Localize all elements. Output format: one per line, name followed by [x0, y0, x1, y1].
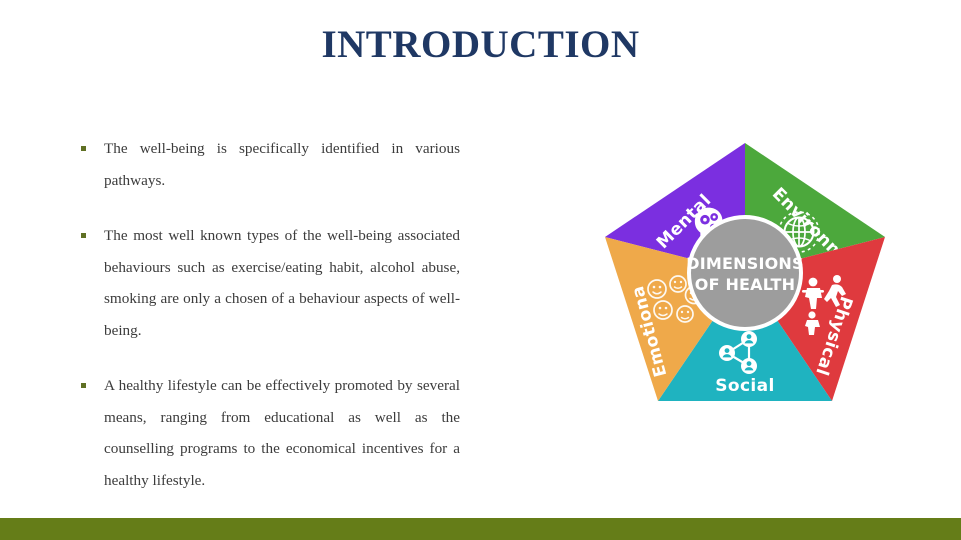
list-item-text: The well-being is specifically identifie…: [104, 140, 460, 189]
footer-accent-bar: [0, 518, 961, 540]
bullet-list: The well-being is specifically identifie…: [78, 133, 460, 496]
list-item-text: A healthy lifestyle can be effectively p…: [104, 377, 460, 489]
bullet-square-icon: [81, 233, 86, 238]
center-circle[interactable]: DIMENSIONS OF HEALTH: [686, 217, 803, 329]
list-item: The most well known types of the well-be…: [78, 220, 460, 346]
segment-social-label: Social: [715, 376, 775, 396]
dimensions-of-health-diagram: Mental Environmental: [598, 133, 892, 411]
center-circle-shape[interactable]: [689, 217, 801, 329]
center-label-line1: DIMENSIONS: [686, 254, 803, 273]
page-title: INTRODUCTION: [0, 22, 961, 69]
presentation-slide: INTRODUCTION The well-being is specifica…: [0, 0, 961, 540]
bullet-square-icon: [81, 146, 86, 151]
center-label-line2: OF HEALTH: [695, 275, 795, 294]
bullet-square-icon: [81, 383, 86, 388]
list-item: A healthy lifestyle can be effectively p…: [78, 370, 460, 496]
list-item-text: The most well known types of the well-be…: [104, 227, 460, 339]
list-item: The well-being is specifically identifie…: [78, 133, 460, 196]
